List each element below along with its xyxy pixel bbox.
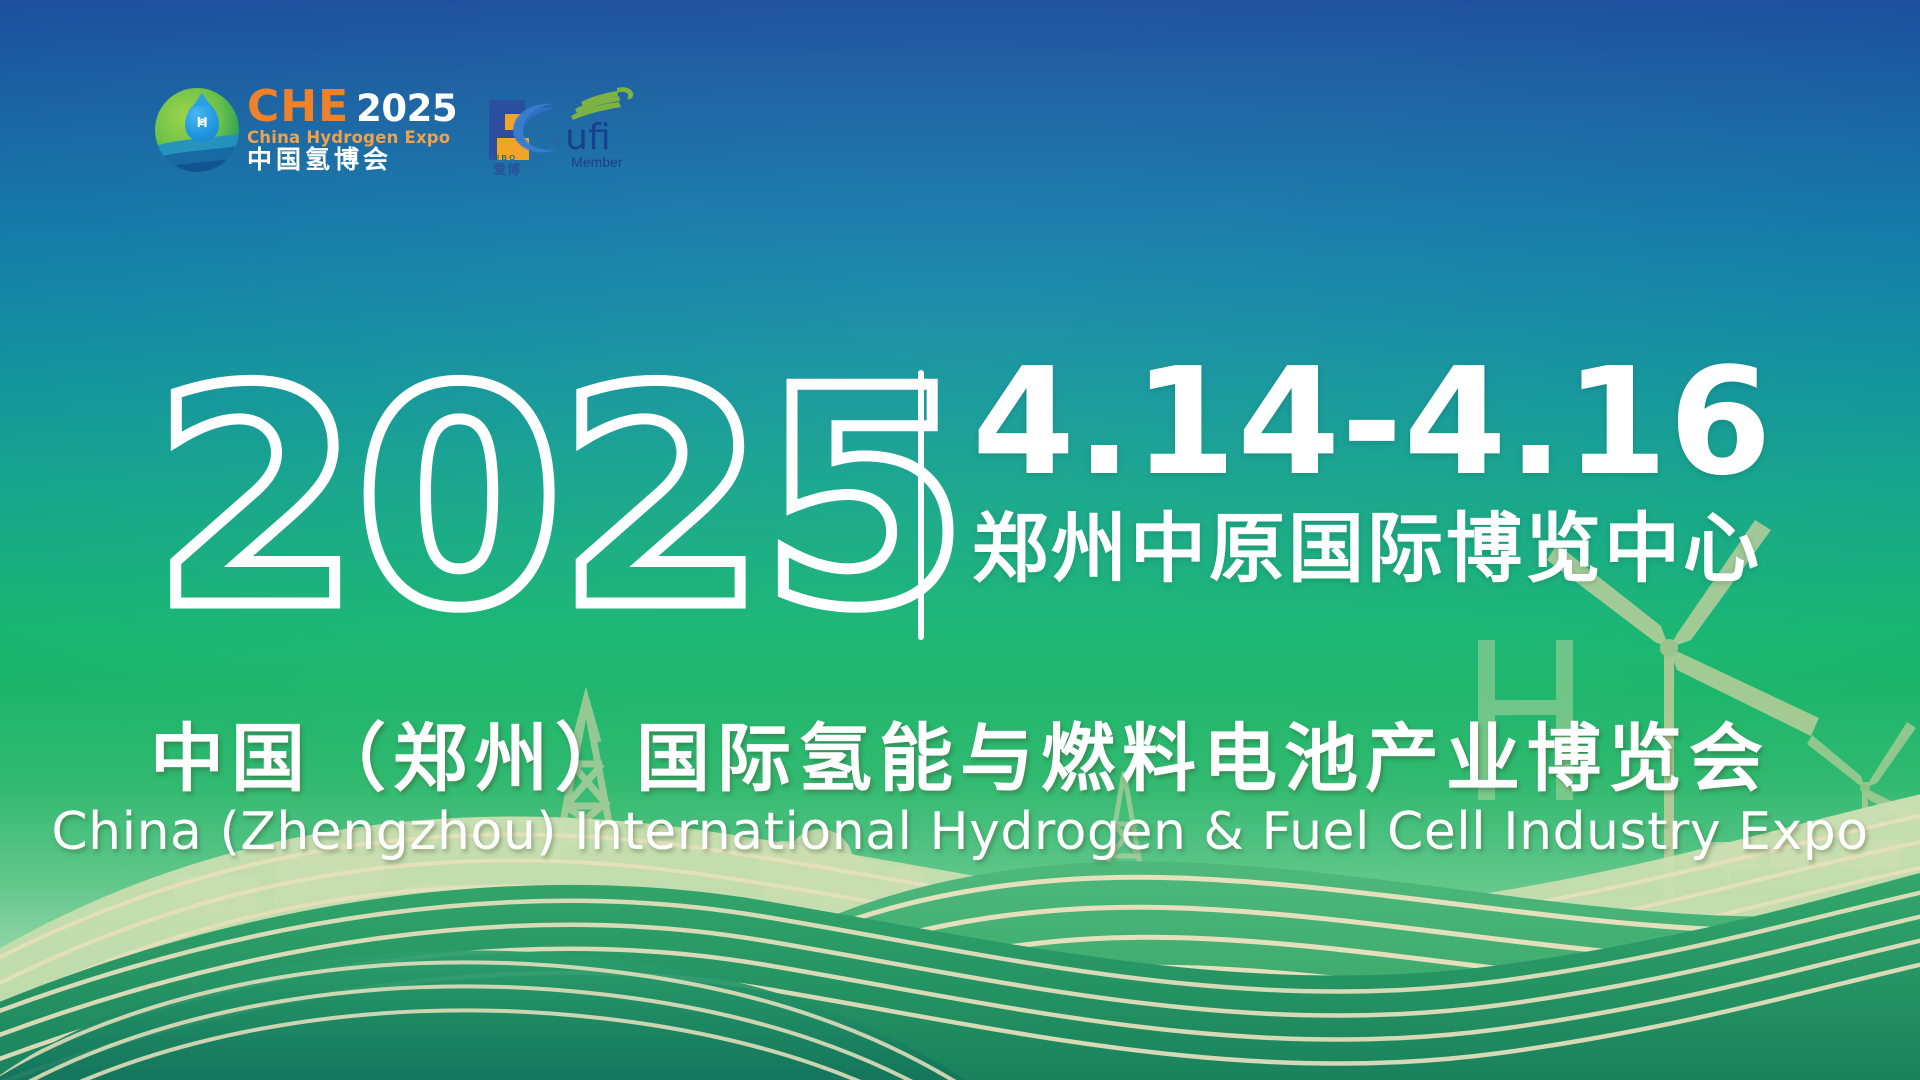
poster-canvas: H2 CHE 2025 China Hydrogen Expo 中国氢博会 AI <box>0 0 1920 1080</box>
globe-hydrogen-icon: H2 <box>155 88 239 172</box>
drop-h-label: H <box>185 102 219 142</box>
che-text-block: CHE 2025 China Hydrogen Expo 中国氢博会 <box>247 87 457 174</box>
event-venue: 郑州中原国际博览中心 <box>972 510 1773 590</box>
hero-block: 2025 4.14-4.16 郑州中原国际博览中心 <box>0 360 1920 660</box>
header-logo-row: H2 CHE 2025 China Hydrogen Expo 中国氢博会 AI <box>155 82 637 178</box>
title-block: 中国（郑州）国际氢能与燃料电池产业博览会 China (Zhengzhou) I… <box>0 718 1920 863</box>
hero-right-block: 4.14-4.16 郑州中原国际博览中心 <box>972 348 1773 590</box>
che-english-label: China Hydrogen Expo <box>247 130 457 147</box>
che-abbrev-label: CHE <box>247 87 349 127</box>
ufi-logo[interactable]: ufi Member <box>565 88 637 172</box>
che-logo[interactable]: H2 CHE 2025 China Hydrogen Expo 中国氢博会 <box>155 87 457 174</box>
aibo-chinese-label: 爱博 <box>493 159 521 178</box>
h2-droplet-icon: H2 <box>185 102 219 142</box>
che-year-label: 2025 <box>356 90 457 127</box>
expo-title-chinese: 中国（郑州）国际氢能与燃料电池产业博览会 <box>0 718 1920 801</box>
che-chinese-label: 中国氢博会 <box>247 148 457 173</box>
aibo-logo-icon[interactable]: AIBO 爱博 ® <box>467 84 559 176</box>
hero-year: 2025 <box>152 350 963 650</box>
expo-title-english: China (Zhengzhou) International Hydrogen… <box>0 803 1920 863</box>
registered-mark: ® <box>553 136 561 148</box>
vertical-divider <box>918 370 924 640</box>
event-dates: 4.14-4.16 <box>972 348 1773 496</box>
ufi-member-label: Member <box>571 154 622 170</box>
ufi-word-label: ufi <box>565 120 611 156</box>
